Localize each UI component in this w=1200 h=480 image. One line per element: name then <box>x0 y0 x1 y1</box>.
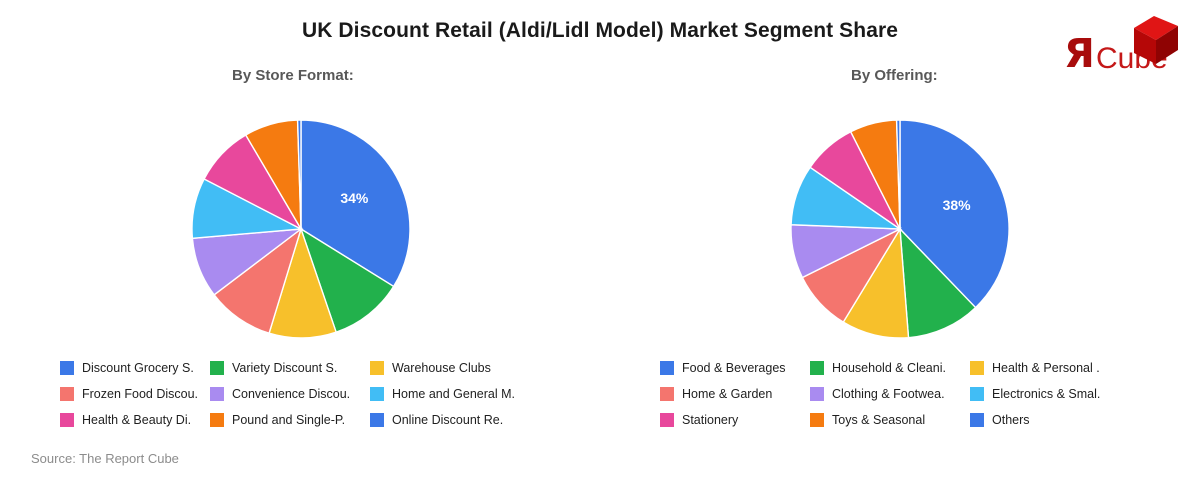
legend-swatch <box>810 413 824 427</box>
legend-item[interactable]: Home and General M. <box>370 386 540 402</box>
panel-subtitle-right: By Offering: <box>851 67 938 84</box>
legend-label: Pound and Single-P. <box>232 414 345 427</box>
source-note: Source: The Report Cube <box>31 451 179 466</box>
legend-swatch <box>970 413 984 427</box>
legend-item[interactable]: Home & Garden <box>660 386 810 402</box>
legend-label: Frozen Food Discou. <box>82 388 198 401</box>
legend-item[interactable]: Discount Grocery S. <box>60 360 210 376</box>
legend-swatch <box>370 413 384 427</box>
logo-cube-icon <box>1134 16 1178 64</box>
legend-label: Health & Beauty Di. <box>82 414 191 427</box>
legend-item[interactable]: Pound and Single-P. <box>210 412 370 428</box>
page-title: UK Discount Retail (Aldi/Lidl Model) Mar… <box>0 19 1200 43</box>
legend-label: Electronics & Smal. <box>992 388 1100 401</box>
chart-page: UK Discount Retail (Aldi/Lidl Model) Mar… <box>0 0 1200 480</box>
legend-swatch <box>370 361 384 375</box>
legend-swatch <box>810 387 824 401</box>
legend-label: Home and General M. <box>392 388 515 401</box>
legend-label: Toys & Seasonal <box>832 414 925 427</box>
legend-label: Stationery <box>682 414 738 427</box>
legend-label: Online Discount Re. <box>392 414 503 427</box>
legend-item[interactable]: Electronics & Smal. <box>970 386 1140 402</box>
legend-item[interactable]: Warehouse Clubs <box>370 360 540 376</box>
legend-swatch <box>60 413 74 427</box>
legend-item[interactable]: Health & Personal . <box>970 360 1140 376</box>
legend-item[interactable]: Household & Cleani. <box>810 360 970 376</box>
legend-item[interactable]: Stationery <box>660 412 810 428</box>
legend-swatch <box>660 387 674 401</box>
legend-item[interactable]: Variety Discount S. <box>210 360 370 376</box>
legend-item[interactable]: Online Discount Re. <box>370 412 540 428</box>
legend-label: Clothing & Footwea. <box>832 388 945 401</box>
legend-swatch <box>660 413 674 427</box>
legend-swatch <box>970 387 984 401</box>
legend-item[interactable]: Clothing & Footwea. <box>810 386 970 402</box>
legend-label: Warehouse Clubs <box>392 362 491 375</box>
legend-swatch <box>970 361 984 375</box>
pie-percent-label: 38% <box>943 197 972 213</box>
legend-label: Convenience Discou. <box>232 388 350 401</box>
legend-item[interactable]: Convenience Discou. <box>210 386 370 402</box>
logo-mark-letter: Я <box>1064 34 1095 74</box>
brand-logo: Я Cube <box>1058 16 1188 78</box>
legend-label: Food & Beverages <box>682 362 786 375</box>
legend-item[interactable]: Others <box>970 412 1140 428</box>
legend-by-store-format: Discount Grocery S.Variety Discount S.Wa… <box>60 360 540 428</box>
legend-label: Home & Garden <box>682 388 772 401</box>
pie-left-svg: 34% <box>191 119 411 339</box>
legend-swatch <box>210 413 224 427</box>
legend-label: Others <box>992 414 1030 427</box>
pie-right-svg: 38% <box>790 119 1010 339</box>
pie-chart-by-offering: 38% <box>790 119 1010 339</box>
legend-item[interactable]: Food & Beverages <box>660 360 810 376</box>
legend-label: Household & Cleani. <box>832 362 946 375</box>
legend-item[interactable]: Health & Beauty Di. <box>60 412 210 428</box>
legend-swatch <box>370 387 384 401</box>
legend-swatch <box>810 361 824 375</box>
legend-label: Health & Personal . <box>992 362 1100 375</box>
legend-swatch <box>210 387 224 401</box>
legend-swatch <box>210 361 224 375</box>
pie-percent-label: 34% <box>340 190 369 206</box>
legend-swatch <box>60 361 74 375</box>
legend-label: Variety Discount S. <box>232 362 337 375</box>
legend-item[interactable]: Toys & Seasonal <box>810 412 970 428</box>
legend-item[interactable]: Frozen Food Discou. <box>60 386 210 402</box>
legend-swatch <box>660 361 674 375</box>
legend-by-offering: Food & BeveragesHousehold & Cleani.Healt… <box>660 360 1140 428</box>
legend-swatch <box>60 387 74 401</box>
panel-subtitle-left: By Store Format: <box>232 67 354 84</box>
pie-chart-by-store-format: 34% <box>191 119 411 339</box>
legend-label: Discount Grocery S. <box>82 362 194 375</box>
